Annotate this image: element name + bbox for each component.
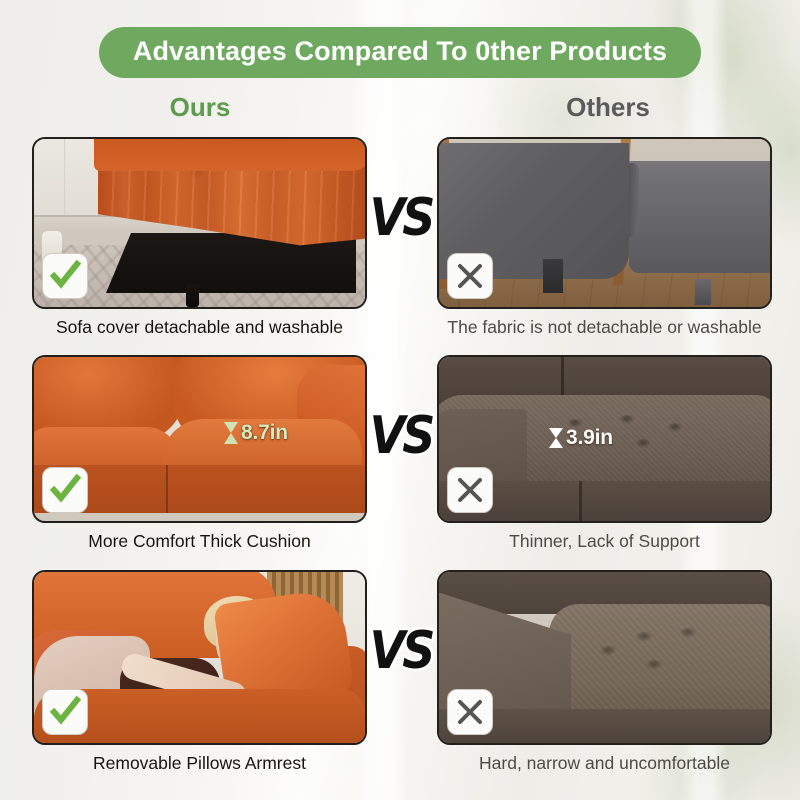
dimension-callout-others: 3.9in xyxy=(549,417,613,459)
comparison-row-1: VS Sofa cover detachable and washable Th… xyxy=(0,137,800,349)
product-image-ours-1 xyxy=(32,137,367,309)
caption-ours-1: Sofa cover detachable and washable xyxy=(32,317,367,338)
cross-icon xyxy=(447,253,493,299)
cross-icon xyxy=(447,689,493,735)
product-image-others-2: 3.9in xyxy=(437,355,772,523)
dimension-value-others: 3.9in xyxy=(566,426,613,450)
comparison-row-2: 8.7in VS xyxy=(0,355,800,567)
page-title: Advantages Compared To 0ther Products xyxy=(99,27,701,78)
title-banner: Advantages Compared To 0ther Products xyxy=(0,27,800,78)
column-header-others: Others xyxy=(508,92,708,123)
comparison-row-3: VS Removable Pillows Armrest Hard, narro… xyxy=(0,570,800,782)
cross-icon xyxy=(447,467,493,513)
product-image-others-1 xyxy=(437,137,772,309)
column-header-ours: Ours xyxy=(100,92,300,123)
caption-ours-2: More Comfort Thick Cushion xyxy=(32,531,367,552)
product-image-ours-3 xyxy=(32,570,367,745)
caption-ours-3: Removable Pillows Armrest xyxy=(32,753,367,774)
vs-badge-2: VS xyxy=(366,407,436,463)
check-icon xyxy=(42,253,88,299)
check-icon xyxy=(42,689,88,735)
check-icon xyxy=(42,467,88,513)
dimension-callout-ours: 8.7in xyxy=(224,401,288,465)
comparison-infographic: Advantages Compared To 0ther Products Ou… xyxy=(0,0,800,800)
product-image-ours-2: 8.7in xyxy=(32,355,367,523)
dimension-value-ours: 8.7in xyxy=(241,421,288,445)
caption-others-1: The fabric is not detachable or washable xyxy=(437,317,772,338)
product-image-others-3 xyxy=(437,570,772,745)
caption-others-3: Hard, narrow and uncomfortable xyxy=(437,753,772,774)
vs-badge-3: VS xyxy=(366,622,436,678)
caption-others-2: Thinner, Lack of Support xyxy=(437,531,772,552)
vs-badge-1: VS xyxy=(366,189,436,245)
